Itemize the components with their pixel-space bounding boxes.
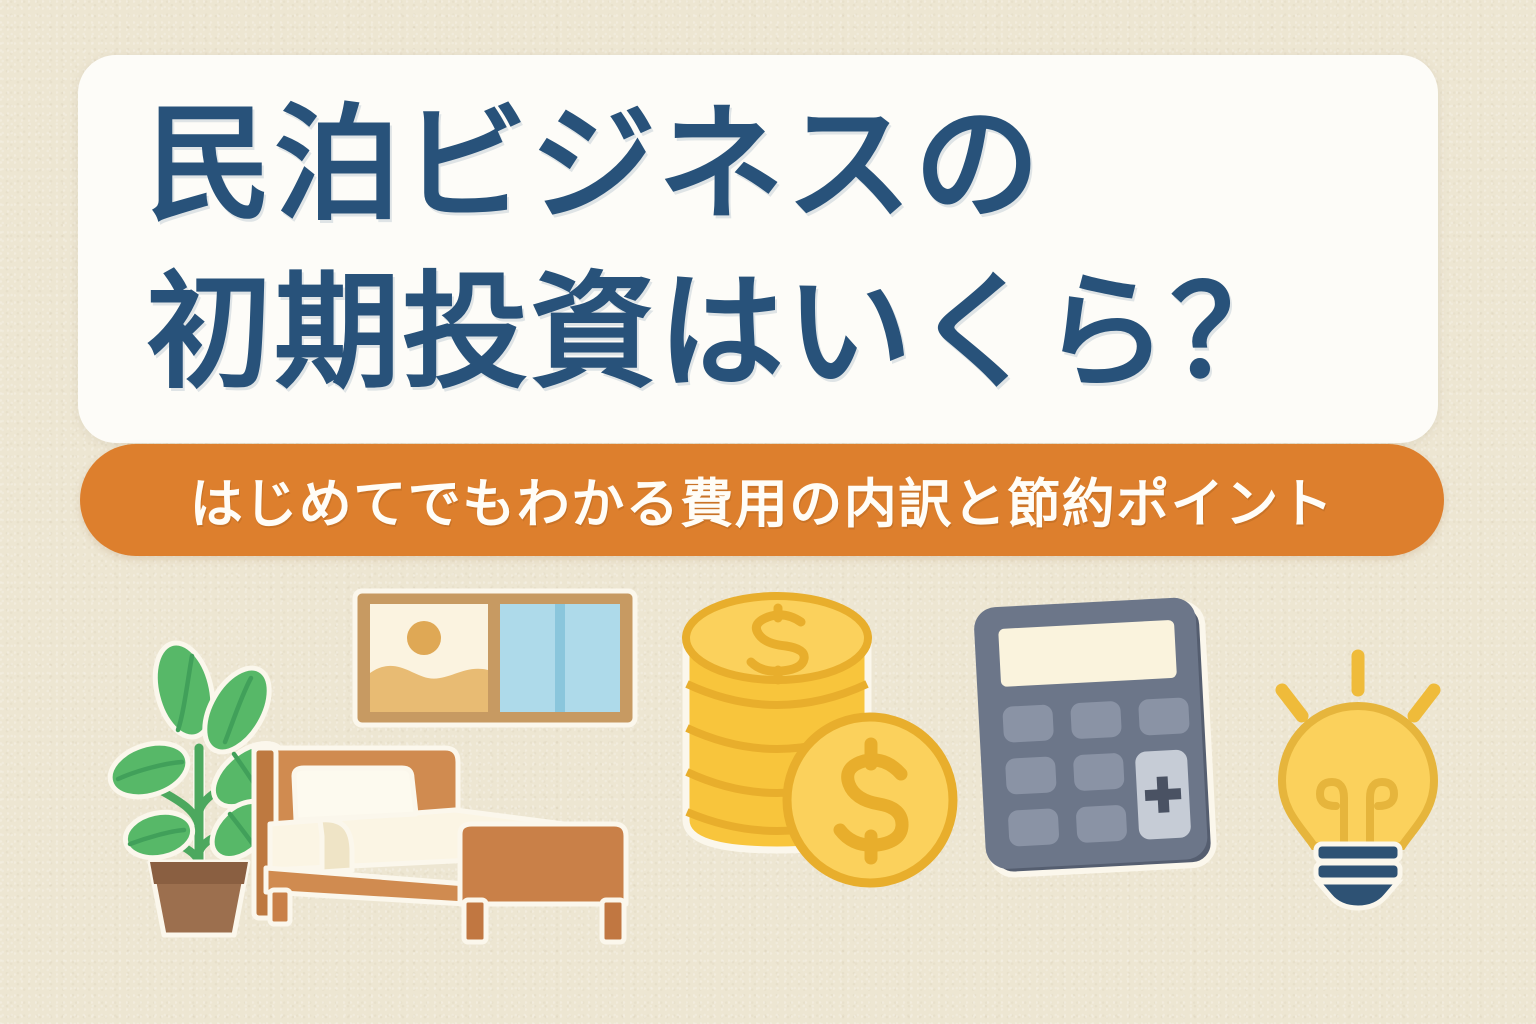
hero-banner: 民泊ビジネスの 初期投資はいくら？ はじめてでもわかる費用の内訳と節約ポイント xyxy=(0,0,1536,1024)
subtitle-text: はじめてでもわかる費用の内訳と節約ポイント xyxy=(190,462,1335,538)
bed-icon xyxy=(240,732,640,932)
lightbulb-icon xyxy=(1258,648,1458,908)
coin-stack-icon xyxy=(672,588,962,888)
subtitle-banner: はじめてでもわかる費用の内訳と節約ポイント xyxy=(80,444,1444,556)
wall-art-and-window-icon xyxy=(352,588,638,728)
calculator-icon xyxy=(962,588,1232,888)
illustration-row xyxy=(0,560,1536,1024)
title-card: 民泊ビジネスの 初期投資はいくら？ xyxy=(78,55,1438,443)
title-line-2: 初期投資はいくら？ xyxy=(146,249,1298,417)
title-line-1: 民泊ビジネスの xyxy=(146,81,1042,249)
